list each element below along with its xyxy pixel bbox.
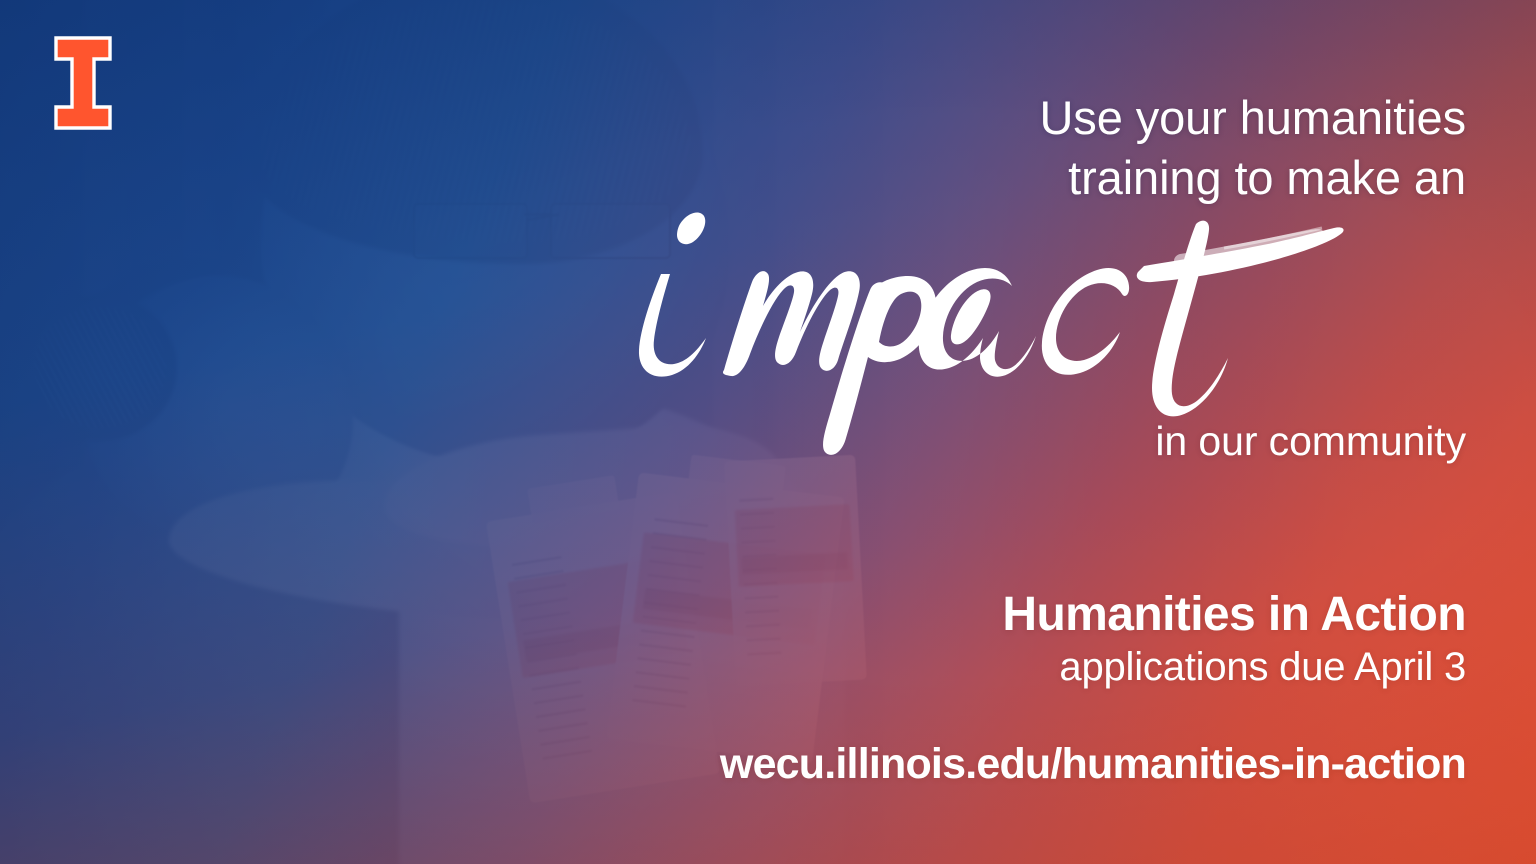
illinois-block-i-logo [54, 36, 112, 130]
subline-in-our-community: in our community [860, 418, 1466, 465]
program-title: Humanities in Action [760, 588, 1466, 642]
program-deadline: applications due April 3 [760, 644, 1466, 691]
script-word-impact [620, 182, 1480, 422]
promotional-poster: Use your humanities training to make an [0, 0, 1536, 864]
program-block: Humanities in Action applications due Ap… [760, 588, 1466, 691]
headline-line-1: Use your humanities [560, 88, 1466, 148]
program-url[interactable]: wecu.illinois.edu/humanities-in-action [560, 740, 1466, 789]
